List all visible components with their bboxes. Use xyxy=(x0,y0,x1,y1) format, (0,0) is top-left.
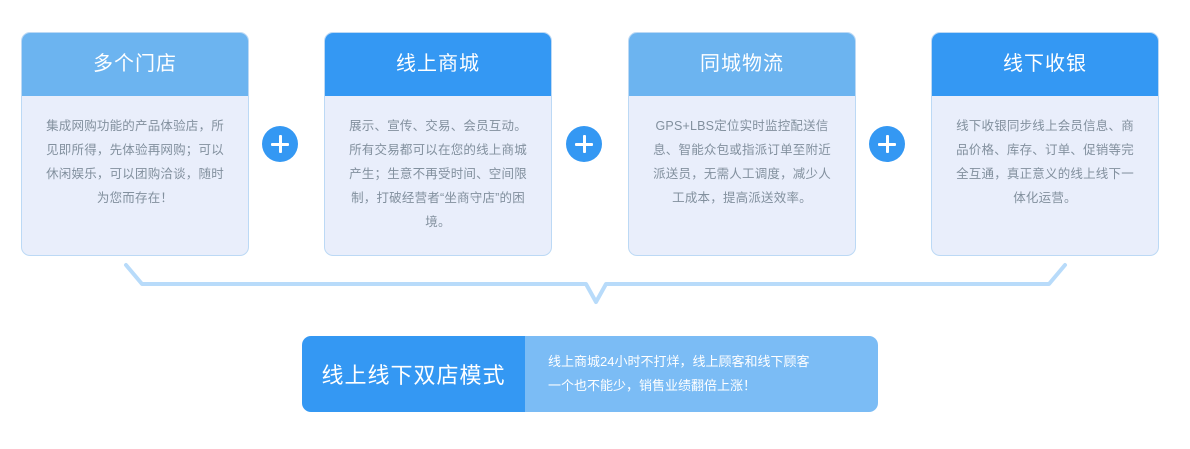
feature-card-4-title: 线下收银 xyxy=(931,32,1159,96)
feature-card-2-title: 线上商城 xyxy=(324,32,552,96)
summary-banner-title: 线上线下双店模式 xyxy=(302,336,525,412)
summary-banner-description-line-2: 一个也不能少，销售业绩翻倍上涨！ xyxy=(548,374,864,398)
feature-card-1-title: 多个门店 xyxy=(21,32,249,96)
summary-banner-description-line-1: 线上商城24小时不打烊，线上顾客和线下顾客 xyxy=(548,350,864,374)
feature-card-4[interactable]: 线下收银 线下收银同步线上会员信息、商品价格、库存、订单、促销等完全互通，真正意… xyxy=(931,32,1159,256)
feature-card-2[interactable]: 线上商城 展示、宣传、交易、会员互动。所有交易都可以在您的线上商城产生；生意不再… xyxy=(324,32,552,256)
feature-card-1-body: 集成网购功能的产品体验店，所见即所得，先体验再网购；可以休闲娱乐，可以团购洽谈，… xyxy=(22,96,248,210)
feature-card-1[interactable]: 多个门店 集成网购功能的产品体验店，所见即所得，先体验再网购；可以休闲娱乐，可以… xyxy=(21,32,249,256)
feature-card-3[interactable]: 同城物流 GPS+LBS定位实时监控配送信息、智能众包或指派订单至附近派送员，无… xyxy=(628,32,856,256)
plus-icon xyxy=(262,126,298,162)
bracket-connector xyxy=(0,258,1190,326)
summary-banner[interactable]: 线上线下双店模式 线上商城24小时不打烊，线上顾客和线下顾客 一个也不能少，销售… xyxy=(302,336,878,412)
plus-icon xyxy=(566,126,602,162)
feature-card-3-title: 同城物流 xyxy=(628,32,856,96)
plus-icon xyxy=(869,126,905,162)
feature-card-3-body: GPS+LBS定位实时监控配送信息、智能众包或指派订单至附近派送员，无需人工调度… xyxy=(629,96,855,210)
summary-banner-description: 线上商城24小时不打烊，线上顾客和线下顾客 一个也不能少，销售业绩翻倍上涨！ xyxy=(525,336,878,412)
feature-card-2-body: 展示、宣传、交易、会员互动。所有交易都可以在您的线上商城产生；生意不再受时间、空… xyxy=(325,96,551,234)
feature-card-4-body: 线下收银同步线上会员信息、商品价格、库存、订单、促销等完全互通，真正意义的线上线… xyxy=(932,96,1158,210)
feature-cards-row: 多个门店 集成网购功能的产品体验店，所见即所得，先体验再网购；可以休闲娱乐，可以… xyxy=(0,0,1190,265)
